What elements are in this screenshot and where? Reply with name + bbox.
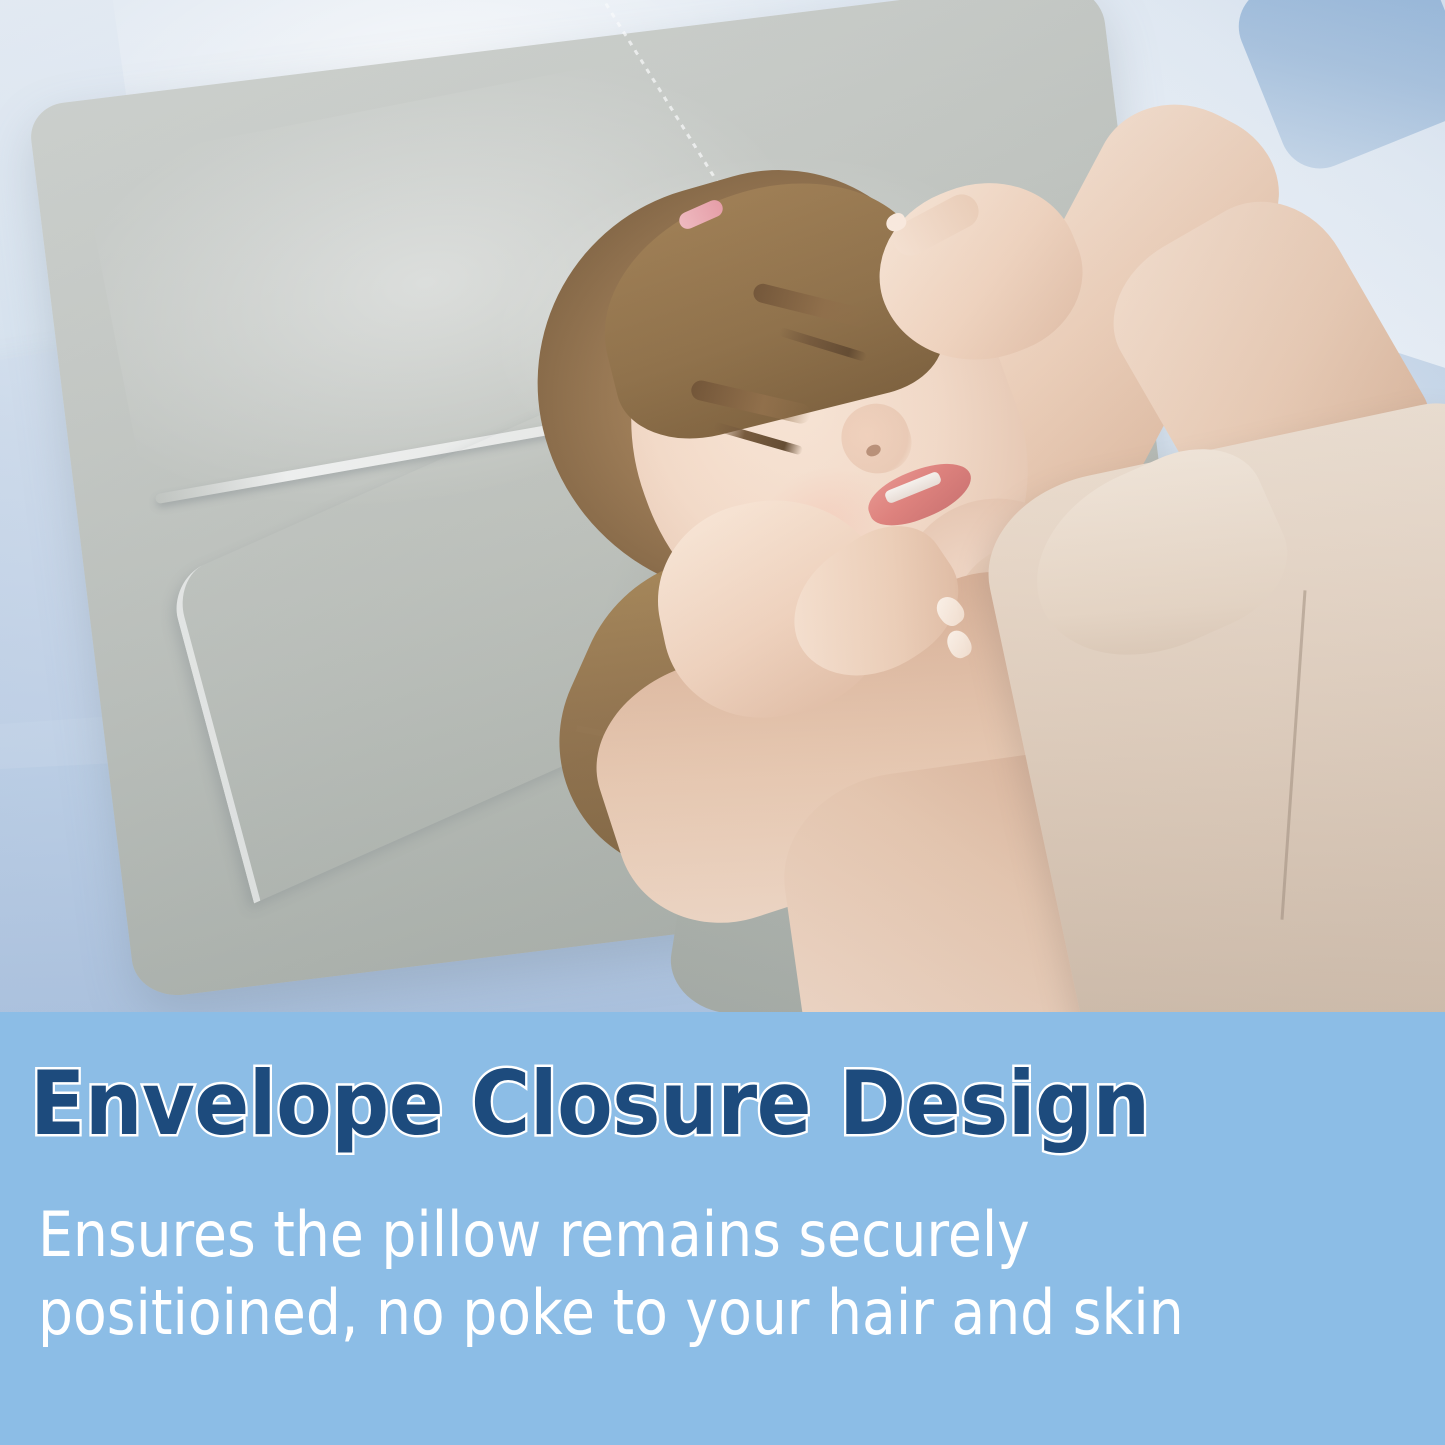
feature-subtitle-line-1: Ensures the pillow remains securely <box>38 1196 1257 1274</box>
feature-subtitle: Ensures the pillow remains securely posi… <box>38 1196 1257 1352</box>
sleeping-woman <box>0 0 1445 1012</box>
feature-headline: Envelope Closure Design <box>30 1060 1300 1148</box>
feature-subtitle-line-2: positioined, no poke to your hair and sk… <box>38 1274 1257 1352</box>
product-lifestyle-photo <box>0 0 1445 1012</box>
product-feature-banner: Envelope Closure Design Ensures the pill… <box>0 0 1445 1445</box>
